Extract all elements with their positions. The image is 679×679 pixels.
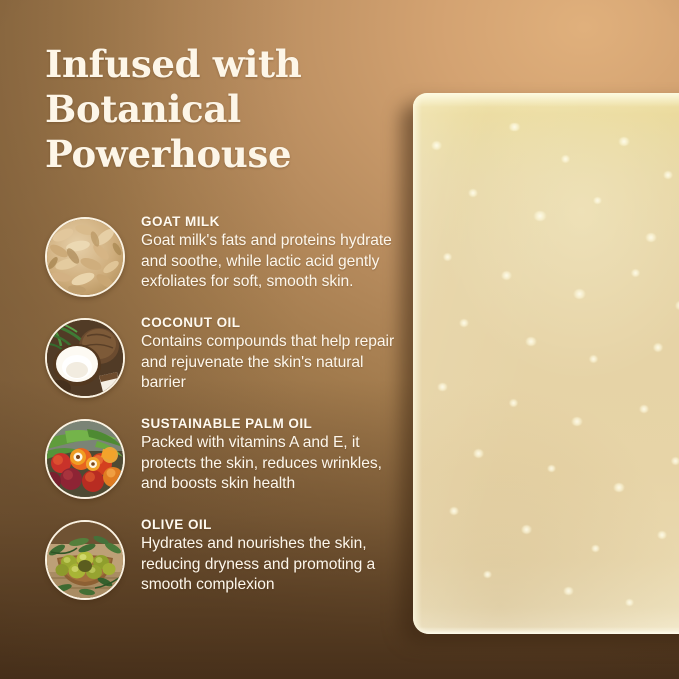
olive-bowl-icon-svg xyxy=(47,522,123,598)
oats-icon-svg xyxy=(47,219,123,295)
soap-bar-sheen xyxy=(413,93,679,634)
oats-icon xyxy=(45,217,125,297)
feature-title: GOAT MILK xyxy=(141,213,405,230)
feature-item-goat-milk: GOAT MILK Goat milk's fats and proteins … xyxy=(45,211,405,297)
feature-title: COCONUT OIL xyxy=(141,314,405,331)
feature-title: OLIVE OIL xyxy=(141,516,405,533)
coconut-half xyxy=(53,344,101,386)
palm-fruit-icon-svg xyxy=(47,421,123,497)
page-title-line-2: Botanical xyxy=(45,87,375,132)
ingredient-feature-list: GOAT MILK Goat milk's fats and proteins … xyxy=(45,211,405,615)
olive-bowl-icon xyxy=(45,520,125,600)
feature-title: SUSTAINABLE PALM OIL xyxy=(141,415,405,432)
product-infographic: Infused with Botanical Powerhouse xyxy=(0,0,679,679)
oats-icon-art xyxy=(47,219,123,295)
feature-description: Hydrates and nourishes the skin, reducin… xyxy=(141,534,405,596)
page-title: Infused with Botanical Powerhouse xyxy=(45,42,375,177)
palm-fruit-icon xyxy=(45,419,125,499)
page-title-line-1: Infused with xyxy=(45,42,375,87)
olive-bowl-icon-art xyxy=(47,522,123,598)
feature-description: Packed with vitamins A and E, it protect… xyxy=(141,433,405,495)
feature-text-palm-oil: SUSTAINABLE PALM OIL Packed with vitamin… xyxy=(141,413,405,495)
page-title-line-3: Powerhouse xyxy=(45,132,375,177)
feature-item-olive-oil: OLIVE OIL Hydrates and nourishes the ski… xyxy=(45,514,405,600)
soap-bar-surface xyxy=(413,93,679,634)
coconut-icon-art xyxy=(47,320,123,396)
palm-fruit-icon-art xyxy=(47,421,123,497)
coconut-icon xyxy=(45,318,125,398)
feature-item-palm-oil: SUSTAINABLE PALM OIL Packed with vitamin… xyxy=(45,413,405,499)
feature-text-goat-milk: GOAT MILK Goat milk's fats and proteins … xyxy=(141,211,405,293)
feature-text-olive-oil: OLIVE OIL Hydrates and nourishes the ski… xyxy=(141,514,405,596)
soap-bar-image xyxy=(413,93,679,634)
feature-text-coconut-oil: COCONUT OIL Contains compounds that help… xyxy=(141,312,405,394)
soap-bar-left-highlight xyxy=(413,93,422,634)
soap-bar-bottom-highlight xyxy=(413,627,679,634)
coconut-icon-svg xyxy=(47,320,123,396)
feature-description: Contains compounds that help repair and … xyxy=(141,332,405,394)
feature-item-coconut-oil: COCONUT OIL Contains compounds that help… xyxy=(45,312,405,398)
soap-bar-top-highlight xyxy=(413,93,679,107)
feature-description: Goat milk's fats and proteins hydrate an… xyxy=(141,231,405,293)
